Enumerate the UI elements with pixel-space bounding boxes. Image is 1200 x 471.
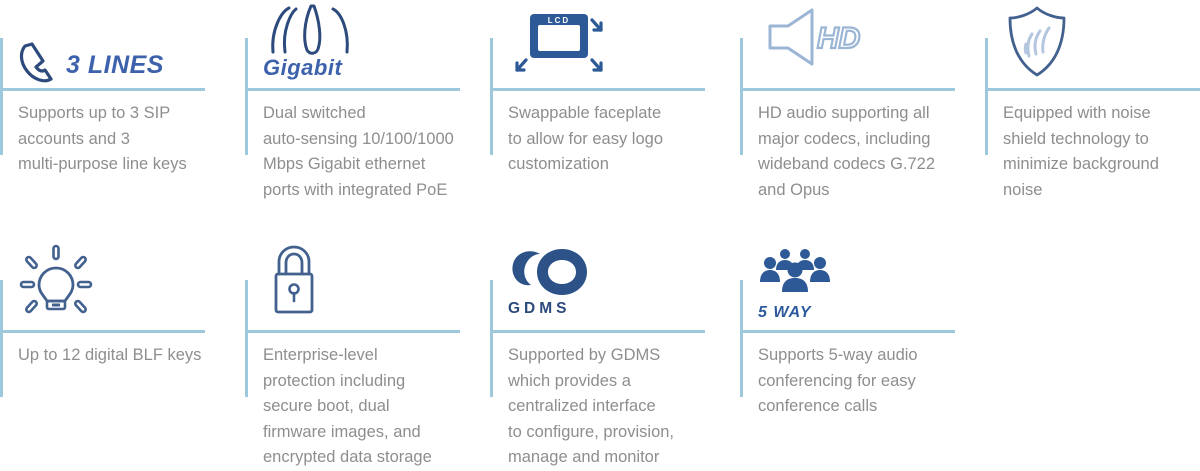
gigabit-arch-icon	[263, 4, 359, 54]
svg-text:HD: HD	[817, 22, 860, 55]
lightbulb-icon	[18, 244, 94, 320]
feature-icon-area: LCD	[508, 8, 708, 94]
cell-vertical-rule	[740, 38, 743, 155]
cell-vertical-rule	[490, 280, 493, 397]
feature-wordmark: 5 WAY	[758, 304, 812, 322]
cell-vertical-rule	[0, 280, 3, 397]
feature-icon-area	[263, 244, 463, 330]
feature-icon-area: Gigabit	[263, 4, 463, 90]
feature-cell-hd-audio: HD HD audio supporting all major codecs,…	[740, 0, 990, 220]
cell-vertical-rule	[0, 38, 3, 155]
cell-vertical-rule	[245, 280, 248, 397]
cell-vertical-rule	[490, 38, 493, 155]
feature-wordmark: 3 LINES	[66, 52, 164, 79]
feature-description: HD audio supporting all major codecs, in…	[758, 101, 973, 203]
cell-vertical-rule	[985, 38, 988, 155]
feature-description: Dual switched auto-sensing 10/100/1000 M…	[263, 101, 478, 203]
feature-description: Equipped with noise shield technology to…	[1003, 101, 1200, 203]
feature-icon-area	[18, 244, 218, 330]
cell-horizontal-rule	[245, 330, 460, 333]
feature-description: Supported by GDMS which provides a centr…	[508, 343, 723, 471]
feature-icon-area: 3 LINES	[18, 0, 218, 86]
phone-handset-icon	[18, 40, 60, 86]
feature-icon-area: 5 WAY	[758, 248, 958, 334]
noise-shield-icon	[1003, 4, 1071, 80]
feature-description: Swappable faceplate to allow for easy lo…	[508, 101, 723, 178]
lcd-faceplate-icon: LCD	[508, 8, 604, 80]
feature-cell-five-way-conference: 5 WAY Supports 5-way audio conferencing …	[740, 242, 990, 441]
feature-description: Up to 12 digital BLF keys	[18, 343, 248, 369]
feature-cell-gigabit: Gigabit Dual switched auto-sensing 10/10…	[245, 0, 495, 220]
feature-cell-swappable-faceplate: LCD Swappable faceplate to allow for eas…	[490, 0, 740, 220]
hd-speaker-icon: HD	[758, 6, 858, 72]
gdms-logo-icon	[508, 246, 594, 298]
feature-wordmark: Gigabit	[263, 56, 342, 80]
feature-cell-three-lines: 3 LINES Supports up to 3 SIP accounts an…	[0, 0, 240, 220]
feature-icon-area: HD	[758, 6, 958, 92]
people-group-icon	[758, 248, 832, 300]
cell-horizontal-rule	[0, 88, 205, 91]
cell-vertical-rule	[740, 280, 743, 397]
cell-vertical-rule	[245, 38, 248, 155]
padlock-icon	[263, 244, 325, 320]
cell-horizontal-rule	[0, 330, 205, 333]
feature-cell-noise-shield: Equipped with noise shield technology to…	[985, 0, 1200, 220]
svg-text:LCD: LCD	[548, 16, 570, 25]
feature-description: Supports 5-way audio conferencing for ea…	[758, 343, 973, 420]
feature-icon-area: GDMS	[508, 246, 708, 332]
feature-wordmark: GDMS	[508, 300, 571, 317]
feature-cell-security: Enterprise-level protection including se…	[245, 242, 495, 441]
feature-grid: 3 LINES Supports up to 3 SIP accounts an…	[0, 0, 1200, 441]
feature-icon-area	[1003, 4, 1200, 90]
feature-description: Supports up to 3 SIP accounts and 3 mult…	[18, 101, 214, 178]
feature-cell-gdms: GDMS Supported by GDMS which provides a …	[490, 242, 740, 441]
feature-cell-blf-keys: Up to 12 digital BLF keys	[0, 242, 240, 441]
feature-description: Enterprise-level protection including se…	[263, 343, 478, 471]
